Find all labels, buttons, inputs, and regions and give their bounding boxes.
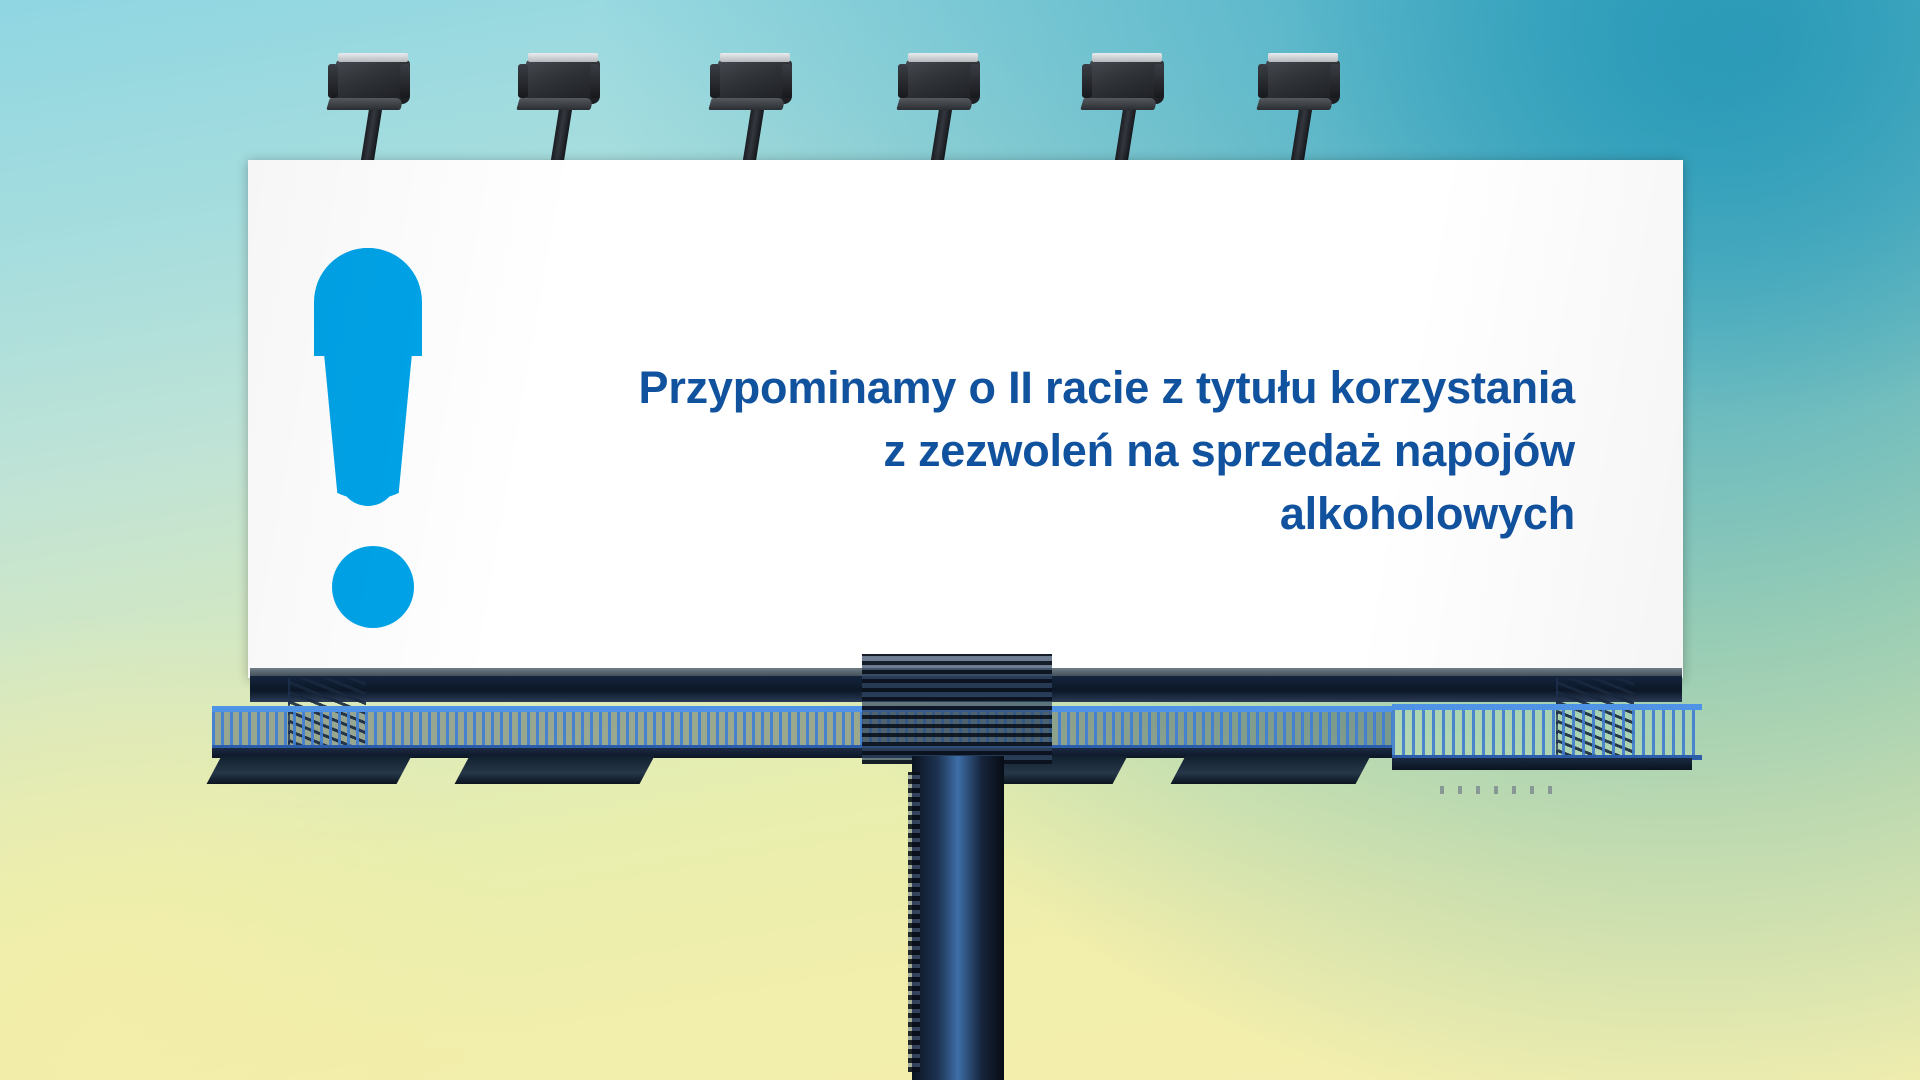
lamp-clip-right-icon — [970, 64, 980, 98]
exclamation-mark-icon — [308, 248, 428, 628]
catwalk-top-rail — [212, 706, 1392, 712]
exclamation-dot-icon — [332, 546, 414, 628]
lamp-clip-left-icon — [328, 64, 338, 98]
service-catwalk-railing — [212, 708, 1392, 750]
lamp-clip-right-icon — [1154, 64, 1164, 98]
lamp-visor-icon — [896, 98, 973, 110]
catwalk-deck-panel-4 — [1171, 756, 1371, 784]
lamp-clip-left-icon — [710, 64, 720, 98]
billboard-message-line-2: z zezwoleń na sprzedaż napojów — [555, 419, 1575, 482]
lamp-clip-right-icon — [400, 64, 410, 98]
billboard-message-line-3: alkoholowych — [555, 482, 1575, 545]
lamp-clip-right-icon — [1330, 64, 1340, 98]
billboard-support-structure — [0, 660, 1920, 1080]
lamp-visor-icon — [516, 98, 593, 110]
lamp-visor-icon — [708, 98, 785, 110]
service-catwalk-railing-right — [1392, 704, 1702, 760]
lamp-clip-right-icon — [782, 64, 792, 98]
billboard-message-line-1: Przypominamy o II racie z tytułu korzyst… — [555, 356, 1575, 419]
support-column — [912, 756, 1004, 1080]
lamp-clip-left-icon — [1082, 64, 1092, 98]
catwalk-deck-panel-2 — [455, 756, 655, 784]
lamp-clip-left-icon — [518, 64, 528, 98]
support-column-ladder — [908, 772, 920, 1072]
billboard-panel: Przypominamy o II racie z tytułu korzyst… — [248, 160, 1683, 678]
lamp-visor-icon — [1256, 98, 1333, 110]
central-pylon-truss — [862, 654, 1052, 764]
catwalk-deck-panel-1 — [207, 756, 412, 784]
exclamation-stroke-tip-icon — [339, 448, 397, 506]
catwalk-fasteners — [1440, 786, 1560, 794]
lamp-clip-left-icon — [1258, 64, 1268, 98]
exclamation-stroke-cap-icon — [314, 248, 422, 356]
lamp-clip-left-icon — [898, 64, 908, 98]
lamp-visor-icon — [326, 98, 403, 110]
billboard-message: Przypominamy o II racie z tytułu korzyst… — [555, 356, 1575, 545]
lamp-clip-right-icon — [590, 64, 600, 98]
catwalk-floor-right — [1392, 758, 1692, 770]
lamp-visor-icon — [1080, 98, 1157, 110]
